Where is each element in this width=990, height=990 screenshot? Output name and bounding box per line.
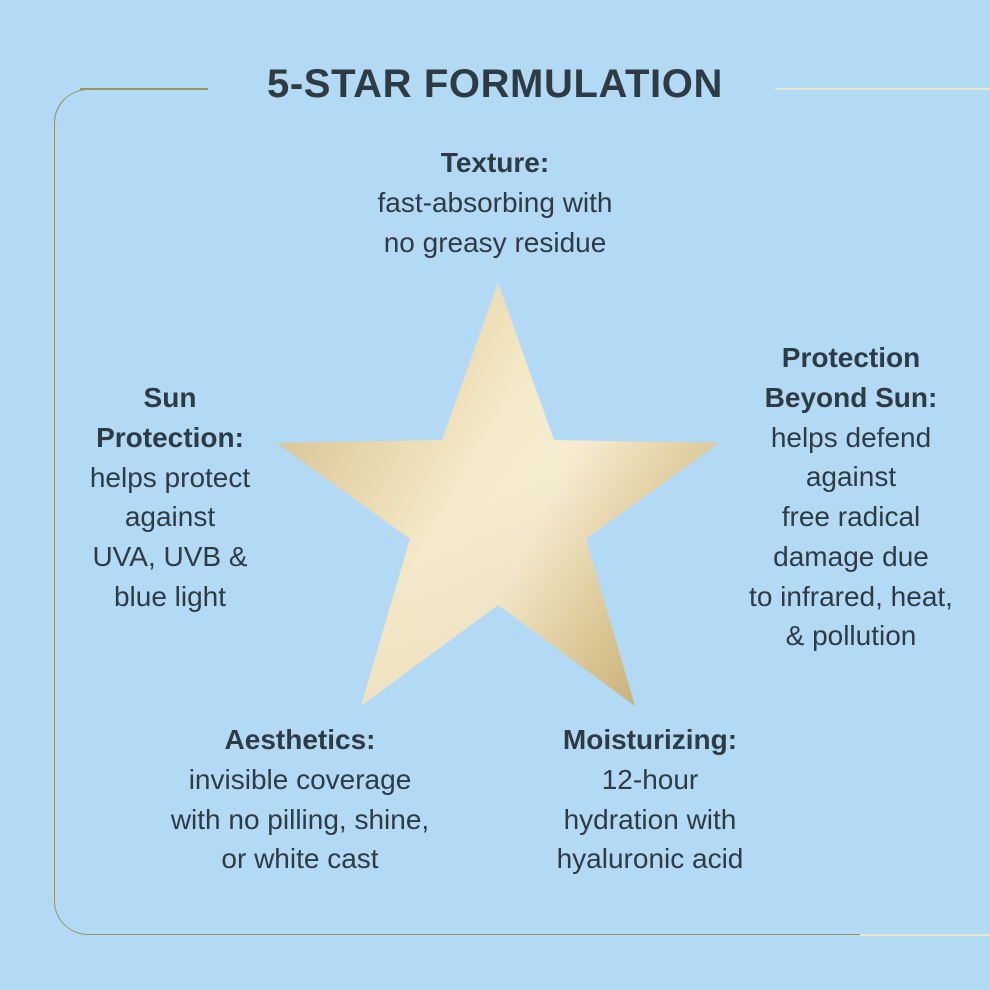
feature-protection-beyond-sun: ProtectionBeyond Sun: helps defendagains… xyxy=(712,338,990,656)
five-pointed-star-icon xyxy=(277,283,719,706)
feature-sun-protection: SunProtection: helps protectagainstUVA, … xyxy=(40,378,300,617)
feature-sun-protection-body: helps protectagainstUVA, UVB &blue light xyxy=(40,458,300,617)
page-title: 5-STAR FORMULATION xyxy=(0,62,990,107)
feature-aesthetics-heading: Aesthetics: xyxy=(105,720,495,760)
feature-protection-beyond-sun-heading: ProtectionBeyond Sun: xyxy=(712,338,990,418)
feature-moisturizing-body: 12-hourhydration withhyaluronic acid xyxy=(510,760,790,879)
feature-texture-heading: Texture: xyxy=(285,143,705,183)
decorative-rule-bottom-right xyxy=(860,934,990,936)
feature-texture: Texture: fast-absorbing withno greasy re… xyxy=(285,143,705,262)
feature-aesthetics-body: invisible coveragewith no pilling, shine… xyxy=(105,760,495,879)
feature-moisturizing: Moisturizing: 12-hourhydration withhyalu… xyxy=(510,720,790,879)
feature-sun-protection-heading: SunProtection: xyxy=(40,378,300,458)
feature-aesthetics: Aesthetics: invisible coveragewith no pi… xyxy=(105,720,495,879)
feature-protection-beyond-sun-body: helps defendagainstfree radicaldamage du… xyxy=(712,418,990,657)
feature-texture-body: fast-absorbing withno greasy residue xyxy=(285,183,705,263)
feature-moisturizing-heading: Moisturizing: xyxy=(510,720,790,760)
infographic-canvas: 5-STAR FORMULATION xyxy=(0,0,990,990)
